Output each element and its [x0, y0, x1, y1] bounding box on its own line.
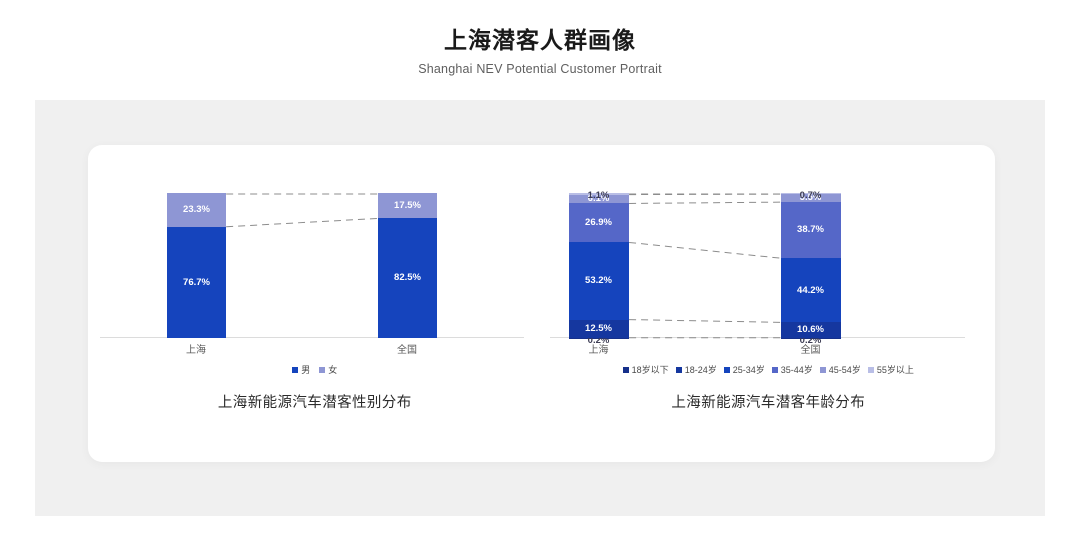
age-legend-label-5: 55岁以上	[877, 363, 914, 376]
age-segment-1-3[interactable]: 38.7%	[781, 202, 841, 258]
age-segment-0-2[interactable]: 53.2%	[569, 242, 629, 319]
age-xtick-1: 全国	[801, 341, 821, 356]
gender-segment-0-1[interactable]: 23.3%	[167, 193, 226, 227]
content-panel: 76.7%23.3% 82.5%17.5% 上海全国 男女 上海新能源汽车潜客性…	[35, 100, 1045, 516]
age-plot-area: 0.2%12.5%53.2%26.9%6.1%1.1% 0.2%10.6%44.…	[542, 193, 996, 338]
age-segment-1-1[interactable]: 10.6%	[781, 322, 841, 337]
charts-row: 76.7%23.3% 82.5%17.5% 上海全国 男女 上海新能源汽车潜客性…	[88, 145, 995, 462]
age-segment-0-3[interactable]: 26.9%	[569, 203, 629, 242]
gender-value-label-1-1: 17.5%	[394, 201, 421, 211]
age-legend-item-5[interactable]: 55岁以上	[868, 363, 914, 376]
age-connector-1	[629, 320, 781, 323]
gender-xtick-0: 上海	[186, 341, 206, 356]
age-x-axis-labels: 上海全国	[542, 341, 996, 357]
gender-connector-0	[226, 218, 378, 226]
age-segment-0-1[interactable]: 12.5%	[569, 320, 629, 338]
age-legend-label-0: 18岁以下	[632, 363, 669, 376]
age-value-label-1-4: 5.5%	[800, 193, 822, 203]
gender-legend-label-0: 男	[301, 363, 310, 376]
age-legend-item-1[interactable]: 18-24岁	[676, 363, 717, 376]
gender-legend-swatch-icon-1	[319, 367, 325, 373]
age-legend-swatch-icon-5	[868, 367, 874, 373]
age-value-label-1-3: 38.7%	[797, 225, 824, 235]
age-legend-label-1: 18-24岁	[685, 363, 717, 376]
page-subtitle: Shanghai NEV Potential Customer Portrait	[0, 55, 1080, 76]
gender-xtick-1: 全国	[397, 341, 417, 356]
gender-bar-shanghai[interactable]: 76.7%23.3%	[167, 193, 226, 338]
gender-chart-caption: 上海新能源汽车潜客性别分布	[88, 391, 542, 412]
age-segment-0-4[interactable]: 6.1%	[569, 195, 629, 204]
age-legend: 18岁以下18-24岁25-34岁35-44岁45-54岁55岁以上	[542, 363, 996, 376]
charts-card: 76.7%23.3% 82.5%17.5% 上海全国 男女 上海新能源汽车潜客性…	[88, 145, 995, 462]
age-legend-swatch-icon-1	[676, 367, 682, 373]
age-value-label-1-2: 44.2%	[797, 286, 824, 296]
gender-value-label-1-0: 82.5%	[394, 273, 421, 283]
gender-legend: 男女	[88, 363, 542, 376]
age-value-label-0-3: 26.9%	[585, 218, 612, 228]
age-legend-swatch-icon-3	[772, 367, 778, 373]
age-xtick-0: 上海	[589, 341, 609, 356]
gender-value-label-0-1: 23.3%	[183, 205, 210, 215]
age-connector-3	[629, 202, 781, 203]
chart-age-distribution: 0.2%12.5%53.2%26.9%6.1%1.1% 0.2%10.6%44.…	[542, 145, 996, 462]
gender-legend-item-0[interactable]: 男	[292, 363, 310, 376]
age-legend-swatch-icon-0	[623, 367, 629, 373]
page-title: 上海潜客人群画像	[0, 0, 1080, 55]
age-value-label-0-2: 53.2%	[585, 276, 612, 286]
age-connector-2	[629, 242, 781, 258]
gender-legend-item-1[interactable]: 女	[319, 363, 337, 376]
age-bar-shanghai[interactable]: 0.2%12.5%53.2%26.9%6.1%1.1%	[569, 193, 629, 338]
gender-legend-label-1: 女	[328, 363, 337, 376]
gender-x-axis-labels: 上海全国	[88, 341, 542, 357]
page-header: 上海潜客人群画像 Shanghai NEV Potential Customer…	[0, 0, 1080, 76]
gender-connector-lines	[88, 193, 542, 338]
gender-legend-swatch-icon-0	[292, 367, 298, 373]
gender-segment-1-0[interactable]: 82.5%	[378, 218, 437, 338]
age-legend-item-2[interactable]: 25-34岁	[724, 363, 765, 376]
age-bar-national[interactable]: 0.2%10.6%44.2%38.7%5.5%0.7%	[781, 193, 841, 338]
age-segment-1-2[interactable]: 44.2%	[781, 258, 841, 322]
age-value-label-0-1: 12.5%	[585, 324, 612, 334]
age-legend-swatch-icon-2	[724, 367, 730, 373]
gender-value-label-0-0: 76.7%	[183, 278, 210, 288]
age-legend-label-4: 45-54岁	[829, 363, 861, 376]
gender-segment-1-1[interactable]: 17.5%	[378, 193, 437, 218]
age-legend-item-3[interactable]: 35-44岁	[772, 363, 813, 376]
age-legend-item-4[interactable]: 45-54岁	[820, 363, 861, 376]
gender-bar-national[interactable]: 82.5%17.5%	[378, 193, 437, 338]
age-value-label-0-4: 6.1%	[588, 194, 610, 204]
age-legend-label-3: 35-44岁	[781, 363, 813, 376]
gender-segment-0-0[interactable]: 76.7%	[167, 227, 226, 338]
age-segment-0-5[interactable]: 1.1%	[569, 193, 629, 195]
age-legend-item-0[interactable]: 18岁以下	[623, 363, 669, 376]
age-value-label-1-1: 10.6%	[797, 325, 824, 335]
age-legend-label-2: 25-34岁	[733, 363, 765, 376]
gender-plot-area: 76.7%23.3% 82.5%17.5%	[88, 193, 542, 338]
age-segment-1-4[interactable]: 5.5%	[781, 194, 841, 202]
age-segment-1-5[interactable]: 0.7%	[781, 193, 841, 194]
chart-gender-distribution: 76.7%23.3% 82.5%17.5% 上海全国 男女 上海新能源汽车潜客性…	[88, 145, 542, 462]
age-legend-swatch-icon-4	[820, 367, 826, 373]
age-chart-caption: 上海新能源汽车潜客年龄分布	[542, 391, 996, 412]
